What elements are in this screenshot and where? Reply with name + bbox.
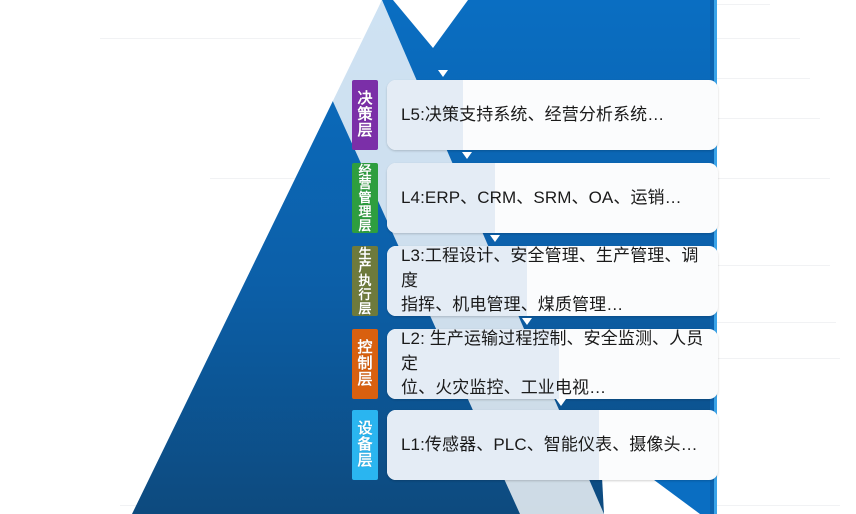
tag-char: 层 bbox=[357, 372, 372, 388]
flow-arrow-icon bbox=[438, 70, 448, 77]
tag-char: 设 bbox=[357, 421, 372, 437]
level-card-l5[interactable]: L5:决策支持系统、经营分析系统… bbox=[387, 80, 718, 150]
level-content-line: L3:工程设计、安全管理、生产管理、调度 bbox=[401, 246, 704, 293]
level-content-l5: L5:决策支持系统、经营分析系统… bbox=[401, 103, 664, 128]
pyramid-level-l4[interactable]: 经 营 管 理 层 L4:ERP、CRM、SRM、OA、运销… bbox=[352, 163, 718, 233]
tag-char: 控 bbox=[357, 340, 372, 356]
level-content-l3: L3:工程设计、安全管理、生产管理、调度 指挥、机电管理、煤质管理… bbox=[401, 246, 704, 316]
level-tag-business-management: 经 营 管 理 层 bbox=[352, 163, 378, 233]
tag-char: 策 bbox=[357, 107, 372, 123]
level-content-line: L2: 生产运输过程控制、安全监测、人员定 bbox=[401, 329, 704, 376]
level-content-line: 指挥、机电管理、煤质管理… bbox=[401, 293, 704, 316]
level-card-l3[interactable]: L3:工程设计、安全管理、生产管理、调度 指挥、机电管理、煤质管理… bbox=[387, 246, 718, 316]
flow-arrow-icon bbox=[556, 399, 566, 406]
flow-arrow-icon bbox=[490, 235, 500, 242]
level-content-l2: L2: 生产运输过程控制、安全监测、人员定 位、火灾监控、工业电视… bbox=[401, 329, 704, 399]
level-tag-equipment: 设 备 层 bbox=[352, 410, 378, 480]
level-content-line: 位、火灾监控、工业电视… bbox=[401, 376, 704, 399]
tag-char: 决 bbox=[357, 91, 372, 107]
tag-char: 行 bbox=[358, 288, 371, 302]
level-card-l2[interactable]: L2: 生产运输过程控制、安全监测、人员定 位、火灾监控、工业电视… bbox=[387, 329, 718, 399]
tag-char: 理 bbox=[358, 205, 371, 219]
pyramid-level-l5[interactable]: 决 策 层 L5:决策支持系统、经营分析系统… bbox=[352, 80, 718, 150]
level-content-l1: L1:传感器、PLC、智能仪表、摄像头… bbox=[401, 433, 698, 458]
tag-char: 层 bbox=[357, 453, 372, 469]
level-tag-control: 控 制 层 bbox=[352, 329, 378, 399]
tag-char: 备 bbox=[357, 437, 372, 453]
flow-arrow-icon bbox=[462, 152, 472, 159]
level-content-l4: L4:ERP、CRM、SRM、OA、运销… bbox=[401, 186, 682, 211]
level-tag-production-execution: 生 产 执 行 层 bbox=[352, 246, 378, 316]
level-tag-decision: 决 策 层 bbox=[352, 80, 378, 150]
flow-arrow-icon bbox=[522, 318, 532, 325]
level-card-l4[interactable]: L4:ERP、CRM、SRM、OA、运销… bbox=[387, 163, 718, 233]
level-card-l1[interactable]: L1:传感器、PLC、智能仪表、摄像头… bbox=[387, 410, 718, 480]
tag-char: 层 bbox=[358, 302, 371, 316]
pyramid-diagram-canvas: 决 策 层 L5:决策支持系统、经营分析系统… 经 营 管 理 层 L4:ERP… bbox=[0, 0, 856, 514]
tag-char: 层 bbox=[357, 123, 372, 139]
pyramid-level-l2[interactable]: 控 制 层 L2: 生产运输过程控制、安全监测、人员定 位、火灾监控、工业电视… bbox=[352, 329, 718, 399]
pyramid-level-l1[interactable]: 设 备 层 L1:传感器、PLC、智能仪表、摄像头… bbox=[352, 410, 718, 480]
tag-char: 管 bbox=[358, 191, 371, 205]
pyramid-levels: 决 策 层 L5:决策支持系统、经营分析系统… 经 营 管 理 层 L4:ERP… bbox=[0, 0, 856, 514]
tag-char: 制 bbox=[357, 356, 372, 372]
tag-char: 执 bbox=[358, 274, 371, 288]
pyramid-level-l3[interactable]: 生 产 执 行 层 L3:工程设计、安全管理、生产管理、调度 指挥、机电管理、煤… bbox=[352, 246, 718, 316]
tag-char: 层 bbox=[358, 219, 371, 233]
